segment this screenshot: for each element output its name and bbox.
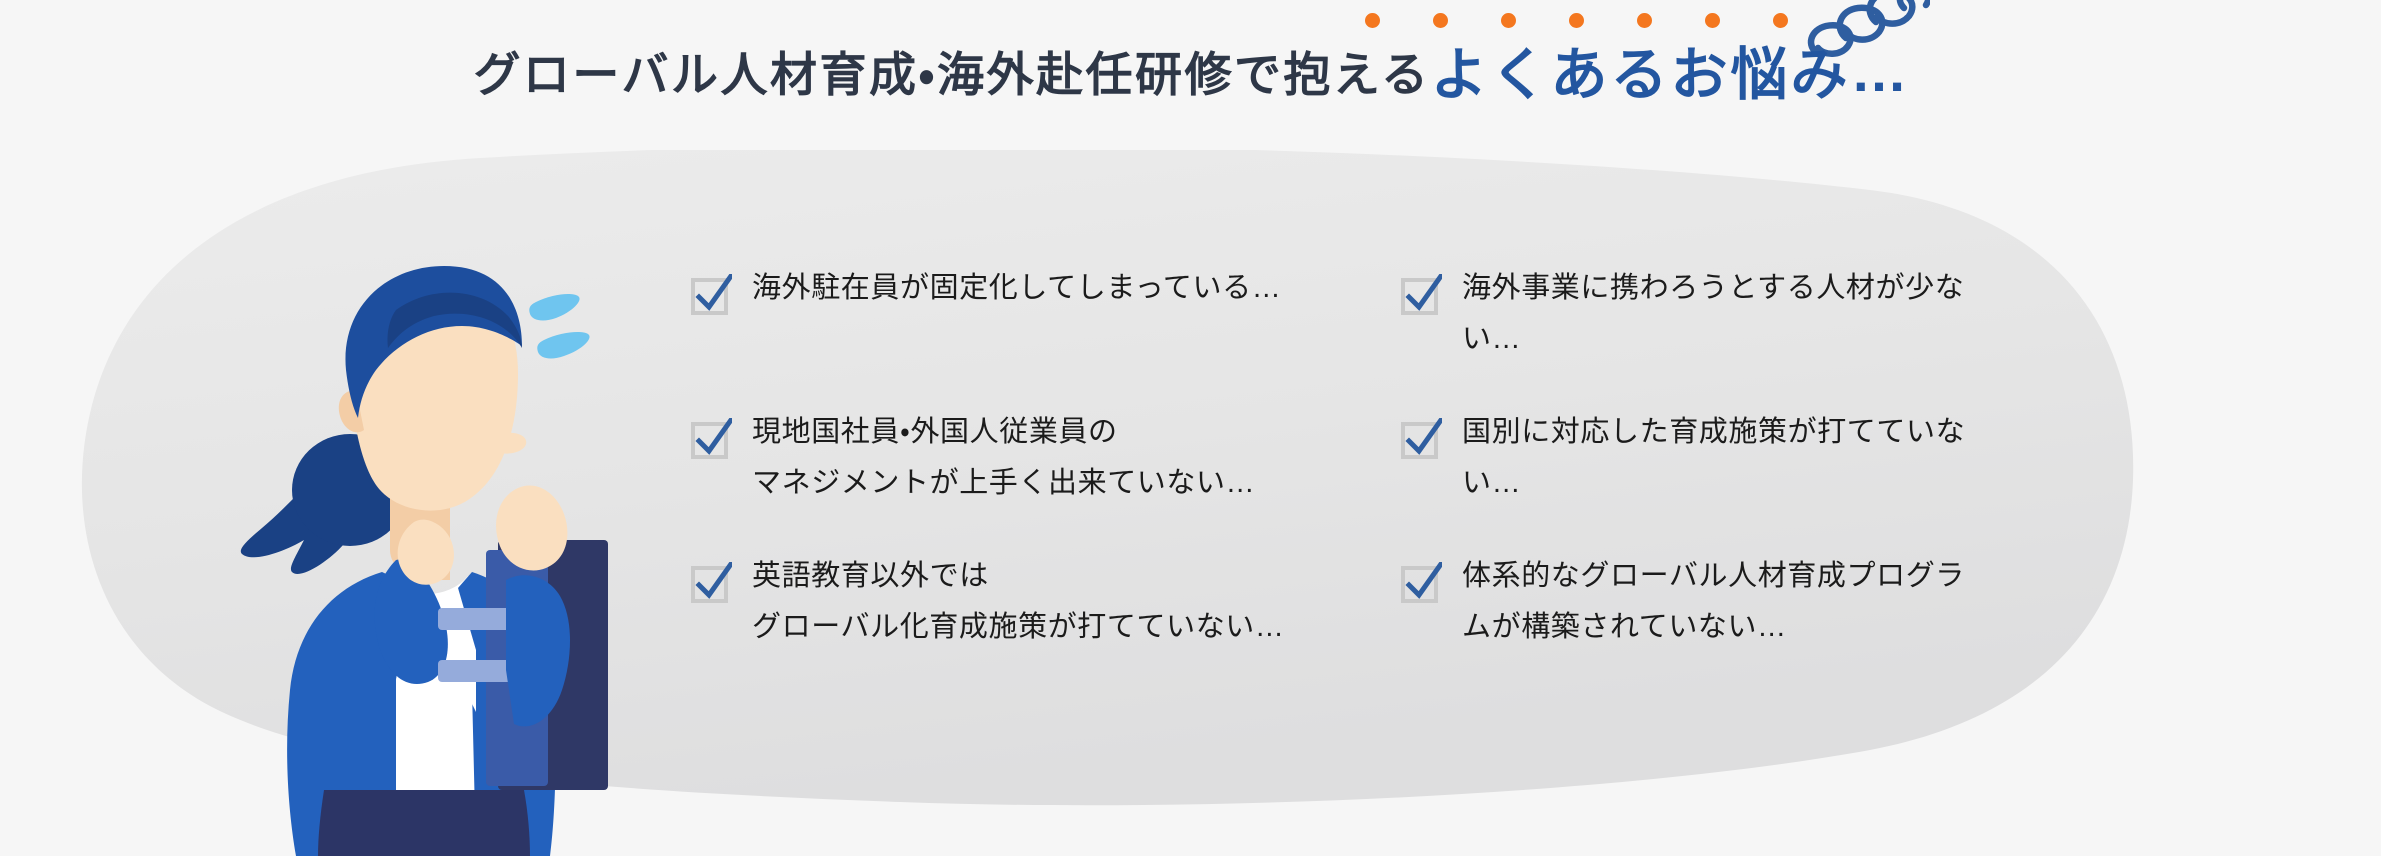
list-item[interactable]: 海外駐在員が固定化してしまっている… xyxy=(690,268,1350,412)
list-item[interactable]: 現地国社員・外国人従業員の マネジメントが上手く出来ていない… xyxy=(690,412,1350,556)
checkbox-checked-icon[interactable] xyxy=(690,418,732,460)
checkbox-checked-icon[interactable] xyxy=(690,562,732,604)
list-item-line2: い… xyxy=(1462,458,1965,509)
orange-dot xyxy=(1365,13,1380,28)
list-item-line1: 英語教育以外では xyxy=(752,560,989,592)
checkbox-checked-icon[interactable] xyxy=(1400,418,1442,460)
list-item[interactable]: 国別に対応した育成施策が打てていな い… xyxy=(1400,412,2060,556)
headline-prefix: グローバル人材育成・海外赴任研修で抱える xyxy=(473,48,1430,101)
list-item-text: 英語教育以外では グローバル化育成施策が打てていない… xyxy=(752,551,1285,653)
page-title: グローバル人材育成・海外赴任研修で抱えるよくあるお悩み… xyxy=(0,40,2381,109)
checkbox-checked-icon[interactable] xyxy=(1400,274,1442,316)
skirt xyxy=(318,790,530,856)
list-item-text: 現地国社員・外国人従業員の マネジメントが上手く出来ていない… xyxy=(752,407,1255,509)
list-item-text: 海外駐在員が固定化してしまっている… xyxy=(752,263,1281,314)
list-item-line1: 海外事業に携わろうとする人材が少な xyxy=(1462,272,1964,304)
worried-businesswoman-illustration xyxy=(200,250,680,856)
list-item[interactable]: 英語教育以外では グローバル化育成施策が打てていない… xyxy=(690,556,1350,700)
list-item-line1: 海外駐在員が固定化してしまっている… xyxy=(752,272,1281,304)
checklist-column-left: 海外駐在員が固定化してしまっている… 現地国社員・外国人従業員の マネジメントが… xyxy=(690,268,1350,700)
list-item-line2: グローバル化育成施策が打てていない… xyxy=(752,602,1285,653)
page-root: グローバル人材育成・海外赴任研修で抱えるよくあるお悩み… xyxy=(0,0,2381,856)
sweat-drops-icon xyxy=(529,294,589,359)
checklist-column-right: 海外事業に携わろうとする人材が少な い… 国別に対応した育成施策が打てていな い… xyxy=(1400,268,2060,700)
headline-highlight: よくあるお悩み xyxy=(1431,43,1851,107)
list-item-line2: ムが構築されていない… xyxy=(1462,602,1965,653)
orange-dot xyxy=(1637,13,1652,28)
pain-points-checklist: 海外駐在員が固定化してしまっている… 現地国社員・外国人従業員の マネジメントが… xyxy=(690,268,2110,700)
orange-dots-decoration xyxy=(1365,13,1788,28)
orange-dot xyxy=(1433,13,1448,28)
list-item-line1: 体系的なグローバル人材育成プログラ xyxy=(1462,560,1965,592)
list-item-line2: マネジメントが上手く出来ていない… xyxy=(752,458,1255,509)
orange-dot xyxy=(1773,13,1788,28)
orange-dot xyxy=(1705,13,1720,28)
list-item-text: 体系的なグローバル人材育成プログラ ムが構築されていない… xyxy=(1462,551,1965,653)
list-item-line1: 現地国社員・外国人従業員の xyxy=(752,416,1118,448)
orange-dot xyxy=(1501,13,1516,28)
orange-dot xyxy=(1569,13,1584,28)
checkbox-checked-icon[interactable] xyxy=(690,274,732,316)
headline-ellipsis: … xyxy=(1851,40,1908,104)
checkbox-checked-icon[interactable] xyxy=(1400,562,1442,604)
list-item-line2: い… xyxy=(1462,314,1964,365)
list-item-text: 国別に対応した育成施策が打てていな い… xyxy=(1462,407,1965,509)
list-item[interactable]: 体系的なグローバル人材育成プログラ ムが構築されていない… xyxy=(1400,556,2060,700)
list-item[interactable]: 海外事業に携わろうとする人材が少な い… xyxy=(1400,268,2060,412)
list-item-line1: 国別に対応した育成施策が打てていな xyxy=(1462,416,1965,448)
list-item-text: 海外事業に携わろうとする人材が少な い… xyxy=(1462,263,1964,365)
